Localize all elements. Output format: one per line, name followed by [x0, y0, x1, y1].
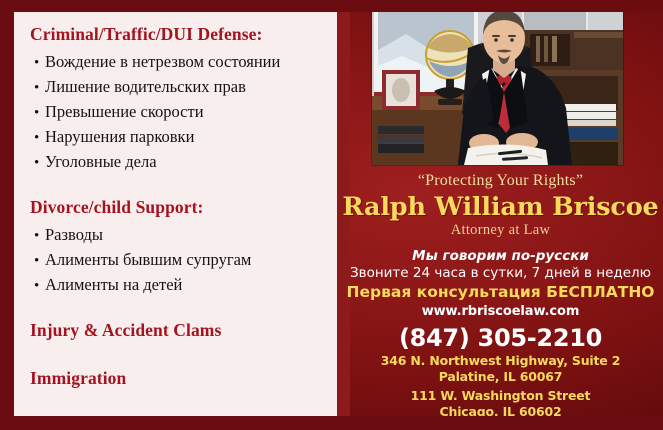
address-city: Chicago, IL 60602	[338, 404, 663, 420]
service-item: •Разводы	[34, 223, 330, 248]
bullet-icon: •	[34, 52, 45, 75]
attorney-photo-illustration	[372, 8, 623, 165]
bullet-icon: •	[34, 102, 45, 125]
law-firm-advertisement: Criminal/Traffic/DUI Defense: •Вождение …	[0, 0, 663, 430]
service-item: •Алименты на детей	[34, 273, 330, 298]
availability-note: Звоните 24 часа в сутки, 7 дней в неделю	[338, 265, 663, 281]
service-item-label: Нарушения парковки	[45, 127, 194, 146]
service-group-divorce: Divorce/child Support: •Разводы •Алимент…	[30, 197, 330, 298]
service-heading-immigration: Immigration	[30, 368, 330, 389]
service-group-injury: Injury & Accident Clams	[30, 320, 330, 341]
attorney-photo	[372, 8, 623, 165]
phone-number[interactable]: (847) 305-2210	[338, 324, 663, 352]
service-heading-injury: Injury & Accident Clams	[30, 320, 330, 341]
service-item-label: Алименты на детей	[45, 275, 182, 294]
russian-language-note: Мы говорим по-русски	[338, 248, 663, 264]
address-street: 111 W. Washington Street	[338, 388, 663, 404]
bullet-icon: •	[34, 77, 45, 100]
spacer	[30, 298, 330, 320]
service-item: •Уголовные дела	[34, 150, 330, 175]
services-panel: Criminal/Traffic/DUI Defense: •Вождение …	[14, 12, 337, 416]
service-item: •Лишение водительских прав	[34, 75, 330, 100]
bullet-icon: •	[34, 275, 45, 298]
bullet-icon: •	[34, 250, 45, 273]
service-heading-divorce: Divorce/child Support:	[30, 197, 330, 218]
service-item-label: Превышение скорости	[45, 102, 204, 121]
attorney-panel: “Protecting Your Rights” Ralph William B…	[338, 0, 663, 430]
office-address-palatine: 346 N. Northwest Highway, Suite 2 Palati…	[338, 353, 663, 385]
bullet-icon: •	[34, 225, 45, 248]
service-item-label: Лишение водительских прав	[45, 77, 246, 96]
service-item-label: Разводы	[45, 225, 103, 244]
service-item: •Нарушения парковки	[34, 125, 330, 150]
service-group-criminal: Criminal/Traffic/DUI Defense: •Вождение …	[30, 24, 330, 175]
service-item-label: Вождение в нетрезвом состоянии	[45, 52, 280, 71]
address-city: Palatine, IL 60067	[338, 369, 663, 385]
spacer	[30, 346, 330, 368]
spacer	[30, 175, 330, 197]
service-group-immigration: Immigration	[30, 368, 330, 389]
website-link[interactable]: www.rbriscoelaw.com	[338, 304, 663, 319]
bullet-icon: •	[34, 127, 45, 150]
tagline: “Protecting Your Rights”	[338, 172, 663, 190]
service-item: •Алименты бывшим супругам	[34, 248, 330, 273]
office-address-chicago: 111 W. Washington Street Chicago, IL 606…	[338, 388, 663, 420]
attorney-title: Attorney at Law	[338, 222, 663, 239]
service-item: •Вождение в нетрезвом состоянии	[34, 50, 330, 75]
service-item: •Превышение скорости	[34, 100, 330, 125]
services-list: Criminal/Traffic/DUI Defense: •Вождение …	[30, 24, 330, 394]
bullet-icon: •	[34, 152, 45, 175]
service-item-label: Алименты бывшим супругам	[45, 250, 251, 269]
service-heading-criminal: Criminal/Traffic/DUI Defense:	[30, 24, 330, 45]
address-street: 346 N. Northwest Highway, Suite 2	[338, 353, 663, 369]
free-consultation-note: Первая консультация БЕСПЛАТНО	[338, 283, 663, 301]
service-item-label: Уголовные дела	[45, 152, 157, 171]
attorney-name: Ralph William Briscoe	[338, 192, 663, 222]
